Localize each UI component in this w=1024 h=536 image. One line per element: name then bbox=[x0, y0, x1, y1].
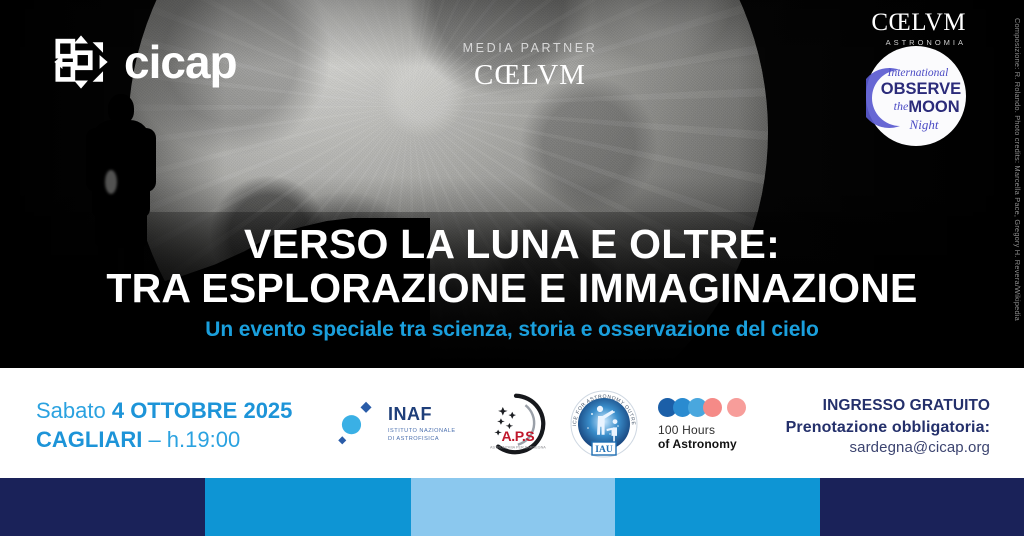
footer-segment-5 bbox=[820, 478, 1024, 536]
svg-text:IAU: IAU bbox=[595, 445, 613, 455]
footer-segment-1 bbox=[0, 478, 205, 536]
hundred-hours-line-2: of Astronomy bbox=[658, 438, 754, 452]
svg-text:OBSERVE: OBSERVE bbox=[881, 80, 961, 98]
cicap-wordmark: cicap bbox=[124, 39, 237, 85]
inaf-logo: INAF ISTITUTO NAZIONALE DI ASTROFISICA bbox=[338, 400, 466, 448]
event-time: – h.19:00 bbox=[142, 427, 240, 452]
inaf-sub-2: DI ASTROFISICA bbox=[388, 436, 456, 444]
title-block: VERSO LA LUNA E OLTRE: TRA ESPLORAZIONE … bbox=[0, 222, 1024, 342]
title-line-2: TRA ESPLORAZIONE E IMMAGINAZIONE bbox=[0, 266, 1024, 310]
svg-text:ASTRONOMIA PER SARDEGNA: ASTRONOMIA PER SARDEGNA bbox=[490, 445, 546, 449]
info-band: Sabato 4 OTTOBRE 2025 CAGLIARI – h.19:00… bbox=[0, 368, 1024, 478]
media-partner-label: MEDIA PARTNER bbox=[440, 41, 620, 55]
svg-text:MOON: MOON bbox=[908, 98, 959, 116]
media-partner-name: CŒLVM bbox=[440, 59, 620, 92]
subtitle: Un evento speciale tra scienza, storia e… bbox=[0, 318, 1024, 342]
svg-text:A.P.S: A.P.S bbox=[502, 428, 535, 444]
coelvm-badge: CŒLVM ASTRONOMIA bbox=[871, 10, 966, 47]
title-line-1: VERSO LA LUNA E OLTRE: bbox=[0, 222, 1024, 266]
event-date-block: Sabato 4 OTTOBRE 2025 CAGLIARI – h.19:00 bbox=[36, 396, 292, 454]
hundred-hours-dots-icon bbox=[658, 397, 754, 419]
coelvm-name: CŒLVM bbox=[871, 10, 966, 35]
free-entry-label: INGRESSO GRATUITO bbox=[786, 396, 990, 417]
footer-segment-2 bbox=[205, 478, 411, 536]
event-date-line: Sabato 4 OTTOBRE 2025 bbox=[36, 396, 292, 425]
media-partner-block: MEDIA PARTNER CŒLVM bbox=[440, 41, 620, 92]
hundred-hours-logo: 100 Hours of Astronomy bbox=[658, 397, 754, 452]
cicap-geometric-star-icon bbox=[52, 33, 110, 91]
hundred-hours-line-1: 100 Hours bbox=[658, 424, 754, 438]
event-place-line: CAGLIARI – h.19:00 bbox=[36, 425, 292, 454]
cicap-logo: cicap bbox=[52, 33, 237, 91]
event-poster: cicap MEDIA PARTNER CŒLVM CŒLVM ASTRONOM… bbox=[0, 0, 1024, 536]
inaf-circle-diamonds-icon bbox=[338, 400, 382, 448]
footer-segment-3 bbox=[411, 478, 615, 536]
svg-text:the: the bbox=[894, 99, 909, 113]
aps-ring-stars-icon: A.P.S ASTRONOMIA PER SARDEGNA bbox=[482, 392, 550, 456]
event-city: CAGLIARI bbox=[36, 427, 142, 452]
inaf-sub-1: ISTITUTO NAZIONALE bbox=[388, 428, 456, 436]
footer-segment-4 bbox=[615, 478, 820, 536]
iau-outreach-figures-icon: IAU OFFICE FOR ASTRONOMY OUTREACH bbox=[566, 388, 642, 460]
observe-the-moon-night-badge: International OBSERVE the MOON Night bbox=[866, 46, 966, 146]
inaf-name: INAF bbox=[388, 404, 432, 424]
access-info-block: INGRESSO GRATUITO Prenotazione obbligato… bbox=[786, 396, 990, 458]
inaf-text: INAF ISTITUTO NAZIONALE DI ASTROFISICA bbox=[388, 405, 456, 443]
event-weekday: Sabato bbox=[36, 398, 112, 423]
svg-text:International: International bbox=[887, 67, 949, 79]
booking-email[interactable]: sardegna@cicap.org bbox=[786, 438, 990, 458]
footer-color-bar bbox=[0, 478, 1024, 536]
svg-text:Night: Night bbox=[909, 117, 939, 132]
partner-logos: INAF ISTITUTO NAZIONALE DI ASTROFISICA bbox=[338, 388, 754, 460]
event-date: 4 OTTOBRE 2025 bbox=[112, 398, 293, 423]
booking-required-label: Prenotazione obbligatoria: bbox=[786, 417, 990, 438]
